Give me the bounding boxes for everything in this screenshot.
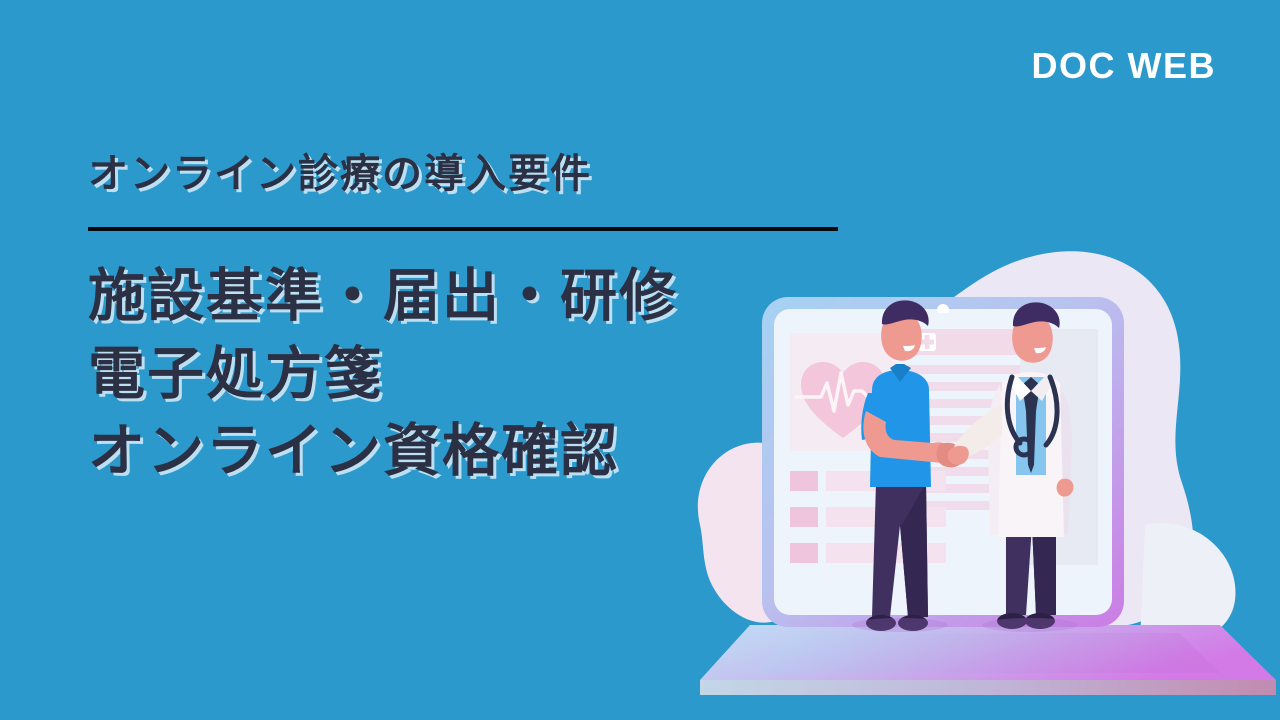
figure-shadow <box>852 618 948 632</box>
slide-canvas: DOC WEB <box>0 0 1280 720</box>
headline-line-3: オンライン資格確認 <box>88 413 868 491</box>
brand-logo: DOC WEB <box>1032 48 1217 84</box>
laptop-base <box>700 625 1276 695</box>
title-divider <box>88 227 838 231</box>
hero-text-block: オンライン診療の導入要件 施設基準・届出・研修 電子処方箋 オンライン資格確認 <box>88 150 868 491</box>
headline-group: 施設基準・届出・研修 電子処方箋 オンライン資格確認 <box>88 258 868 491</box>
eyebrow-title: オンライン診療の導入要件 <box>88 150 868 198</box>
headline-line-2: 電子処方箋 <box>88 336 868 414</box>
headline-line-1: 施設基準・届出・研修 <box>88 258 868 336</box>
figure-shadow <box>982 618 1078 632</box>
